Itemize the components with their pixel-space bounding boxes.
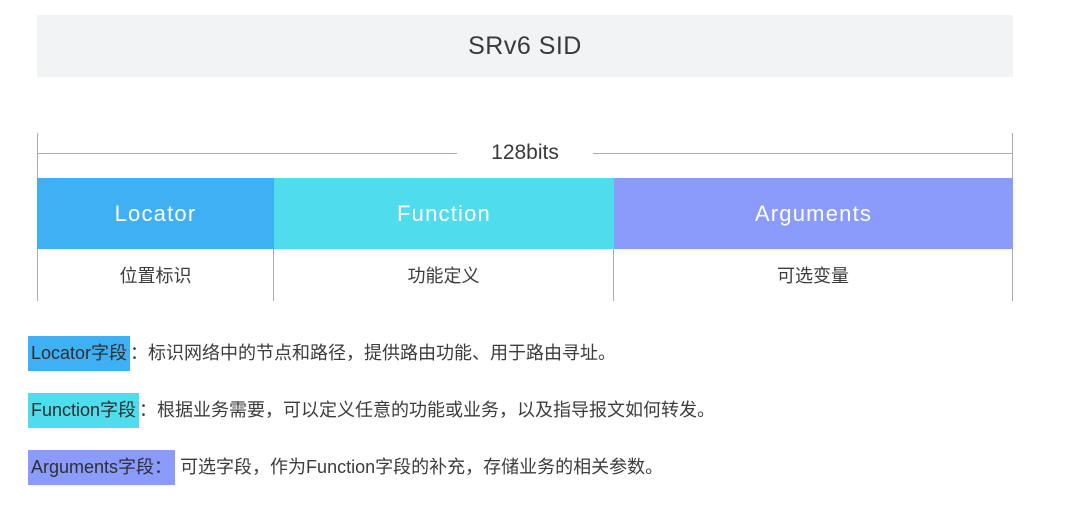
sid-desc-locator: 位置标识 [37,249,274,301]
sid-block-arguments: Arguments [614,178,1013,249]
sid-block-arguments-label: Arguments [755,201,872,227]
sid-desc-function-label: 功能定义 [408,262,480,288]
sid-block-locator-label: Locator [115,201,197,227]
bit-width-measure: 128bits [37,133,1013,178]
legend-text-arguments: 可选字段，作为Function字段的补充，存储业务的相关参数。 [180,452,663,482]
sid-desc-arguments: 可选变量 [614,249,1013,301]
sid-block-locator: Locator [37,178,274,249]
legend-separator-locator: ： [130,338,148,368]
sid-block-row: Locator Function Arguments [37,178,1013,249]
legend-item-arguments: Arguments字段： 可选字段，作为Function字段的补充，存储业务的相… [28,450,1058,485]
sid-description-row: 位置标识 功能定义 可选变量 [37,249,1013,301]
legend-term-function: Function字段 [28,393,139,428]
sid-block-function-label: Function [397,201,491,227]
sid-desc-arguments-label: 可选变量 [777,262,849,288]
measure-label: 128bits [477,141,573,164]
legend-item-function: Function字段 ： 根据业务需要，可以定义任意的功能或业务，以及指导报文如… [28,393,1058,428]
legend-item-locator: Locator字段 ： 标识网络中的节点和路径，提供路由功能、用于路由寻址。 [28,336,1058,371]
page-title: SRv6 SID [468,32,582,61]
legend-term-locator: Locator字段 [28,336,130,371]
sid-desc-locator-label: 位置标识 [120,262,192,288]
legend-term-arguments: Arguments字段： [28,450,175,485]
srv6-sid-field-table: Locator Function Arguments 位置标识 功能定义 可选变… [37,178,1013,301]
legend-separator-function: ： [139,395,157,425]
legend-list: Locator字段 ： 标识网络中的节点和路径，提供路由功能、用于路由寻址。 F… [28,336,1058,507]
legend-text-locator: 标识网络中的节点和路径，提供路由功能、用于路由寻址。 [148,338,616,368]
header-banner: SRv6 SID [37,15,1013,77]
sid-block-function: Function [274,178,614,249]
legend-text-function: 根据业务需要，可以定义任意的功能或业务，以及指导报文如何转发。 [157,395,715,425]
sid-desc-function: 功能定义 [274,249,614,301]
measure-label-wrapper: 128bits [37,140,1013,166]
